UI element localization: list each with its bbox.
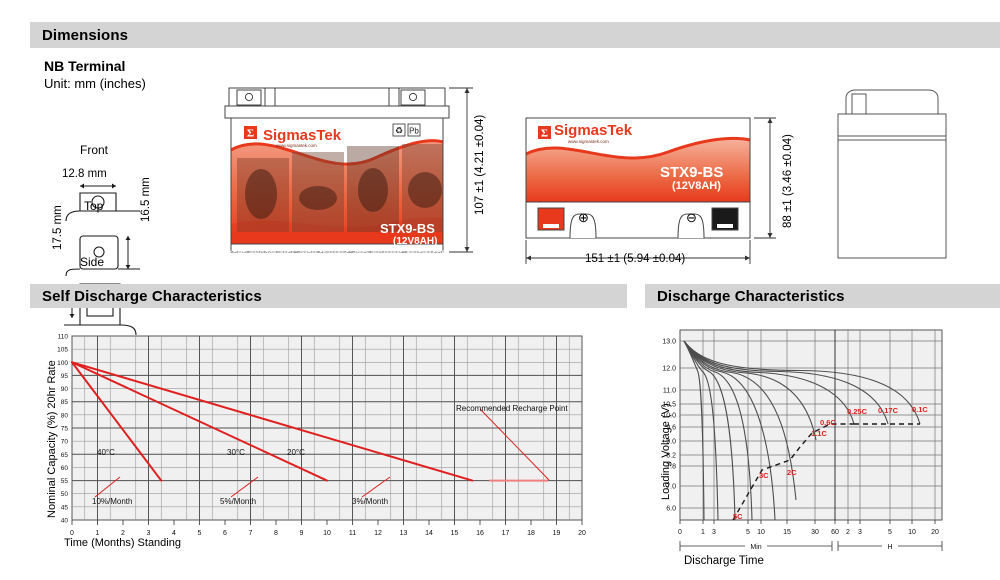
label-0.25c: 0.25C <box>847 407 868 416</box>
svg-text:10: 10 <box>757 529 765 536</box>
svg-text:60: 60 <box>831 529 839 536</box>
svg-text:15: 15 <box>783 529 791 536</box>
svg-text:30: 30 <box>811 529 819 536</box>
svg-text:5: 5 <box>888 529 892 536</box>
svg-text:3: 3 <box>712 529 716 536</box>
unit-hours: H <box>887 544 892 551</box>
label-3c: 3C <box>759 471 769 480</box>
label-0.17c: 0.17C <box>878 406 899 415</box>
svg-text:6.0: 6.0 <box>666 506 676 513</box>
unit-minutes: Min <box>750 544 761 551</box>
label-0.1c: 0.1C <box>912 405 928 414</box>
label-2c: 2C <box>787 468 797 477</box>
svg-text:2: 2 <box>846 529 850 536</box>
discharge-xlabel: Discharge Time <box>684 555 764 567</box>
svg-text:10: 10 <box>908 529 916 536</box>
label-0.6c: 0.6C <box>820 418 836 427</box>
svg-text:11.0: 11.0 <box>663 388 676 395</box>
label-1.1c: 1.1C <box>811 429 827 438</box>
svg-text:12.0: 12.0 <box>662 366 676 373</box>
svg-text:5: 5 <box>746 529 750 536</box>
svg-text:20: 20 <box>931 529 939 536</box>
svg-text:3: 3 <box>858 529 862 536</box>
svg-text:0: 0 <box>678 529 682 536</box>
discharge-ylabel: Loading Voltage (V) <box>660 403 672 500</box>
discharge-chart: 13.012.011.0 10.510.09.6 9.08.27.8 7.06.… <box>0 0 1000 580</box>
svg-text:1: 1 <box>701 529 705 536</box>
label-5c: 5C <box>733 512 743 521</box>
svg-text:13.0: 13.0 <box>662 339 676 346</box>
